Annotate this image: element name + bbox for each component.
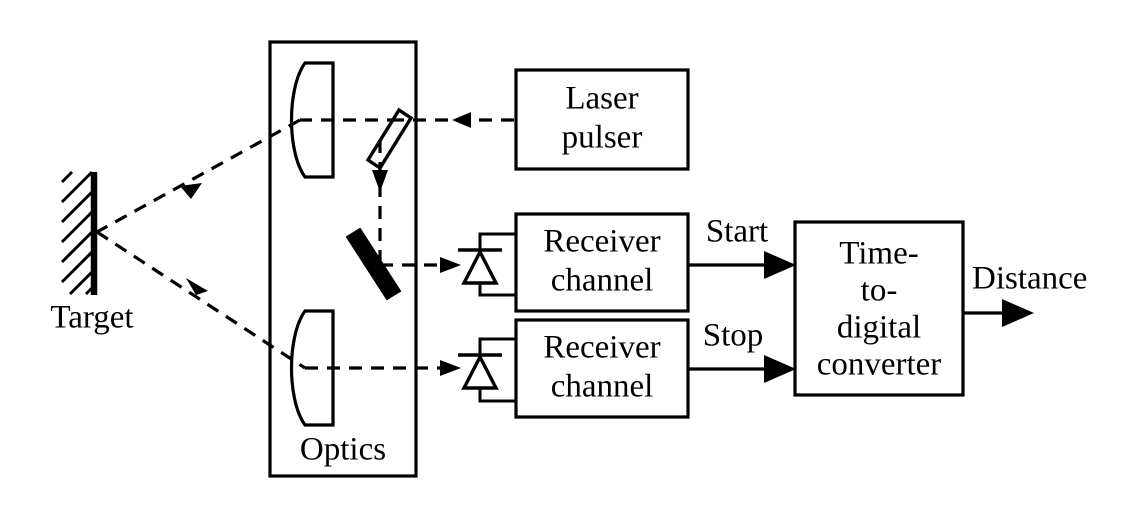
stop-label: Stop — [703, 318, 764, 354]
optics-label: Optics — [300, 432, 386, 468]
receiver-channel-start-label-line2: channel — [551, 263, 654, 299]
receiver-channel-stop-label-line1: Receiver — [543, 330, 660, 366]
target-label: Target — [50, 300, 133, 336]
receiver-channel-stop-block[interactable]: Receiver channel — [516, 320, 688, 417]
start-label: Start — [706, 214, 768, 250]
time-to-digital-converter-block[interactable]: Time- to- digital converter — [795, 222, 963, 395]
laser-pulser-block[interactable]: Laser pulser — [516, 70, 688, 169]
photodiode-start-triangle — [464, 252, 496, 283]
laser-pulser-label-line1: Laser — [565, 81, 638, 117]
photodiode-stop-triangle — [464, 357, 496, 388]
ray-arrow-down-splitter — [372, 170, 388, 192]
laser-pulser-label-line2: pulser — [562, 120, 643, 156]
start-arrowhead — [764, 251, 796, 279]
photodiode-stop-wire-bottom — [480, 388, 516, 401]
tdc-label-line1: Time- — [839, 236, 918, 272]
start-signal-connector: Start — [688, 214, 796, 279]
photodiode-start-wire-bottom — [480, 283, 516, 295]
distance-label: Distance — [972, 261, 1087, 297]
target-hatching — [62, 172, 92, 294]
target-group: Target — [50, 172, 133, 336]
photodiode-start-wire-top — [480, 234, 516, 250]
ray-arrow-laser — [452, 112, 471, 128]
ray-arrow-stop-diode — [440, 360, 461, 376]
ray-arrow-start-diode — [440, 257, 461, 273]
receiver-channel-start-label-line1: Receiver — [543, 224, 660, 260]
photodiode-stop — [458, 339, 516, 401]
tdc-label-line3: digital — [837, 310, 921, 346]
diagram-canvas: Target Optics — [0, 0, 1123, 527]
distance-arrowhead — [1002, 299, 1034, 327]
stop-arrowhead — [764, 355, 796, 383]
receiver-channel-start-block[interactable]: Receiver channel — [516, 214, 688, 311]
photodiode-start — [458, 234, 516, 295]
distance-output-connector: Distance — [963, 261, 1087, 327]
ray-mirror-to-start-diode — [380, 257, 461, 273]
tdc-label-line2: to- — [861, 273, 898, 309]
receiver-channel-stop-label-line2: channel — [551, 369, 654, 405]
rangefinder-diagram: Target Optics — [0, 0, 1123, 527]
tdc-label-line4: converter — [817, 347, 942, 383]
stop-signal-connector: Stop — [688, 318, 796, 383]
photodiode-stop-wire-top — [480, 339, 516, 355]
